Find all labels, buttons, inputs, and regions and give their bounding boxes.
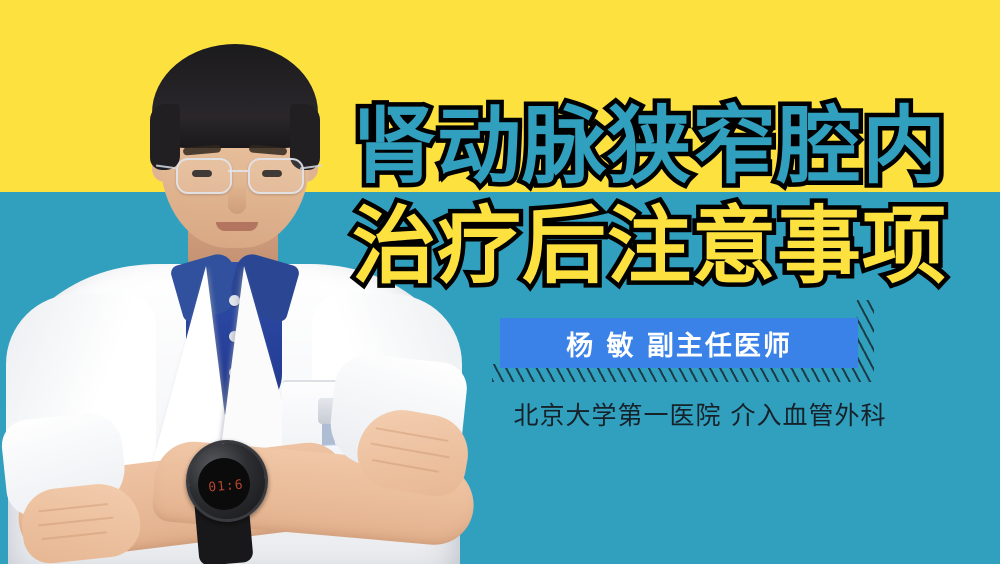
presenter-affiliation: 北京大学第一医院 介入血管外科 bbox=[0, 396, 1000, 432]
finger-line bbox=[371, 443, 450, 459]
glasses-lens-right bbox=[248, 158, 304, 194]
finger-line bbox=[372, 459, 439, 473]
nose bbox=[228, 184, 246, 214]
hair-side-left bbox=[150, 104, 180, 170]
glasses-bridge bbox=[228, 170, 248, 172]
finger-line bbox=[41, 531, 107, 540]
presenter-name-title: 杨 敏 副主任医师 bbox=[566, 324, 792, 363]
headline-line-2: 治疗后注意事项 bbox=[352, 204, 947, 288]
glasses-lens-left bbox=[176, 158, 232, 194]
mouth bbox=[216, 222, 258, 231]
headline-line-1: 肾动脉狭窄腔内 bbox=[352, 104, 947, 188]
finger-line bbox=[38, 503, 108, 512]
poster-root: 01:6 肾动脉狭窄腔内 治疗后注意事项 杨 敏 副主任医师 北京大学第一医院 … bbox=[0, 0, 1000, 564]
presenter-name-badge: 杨 敏 副主任医师 bbox=[500, 318, 858, 368]
finger-line bbox=[38, 517, 114, 527]
